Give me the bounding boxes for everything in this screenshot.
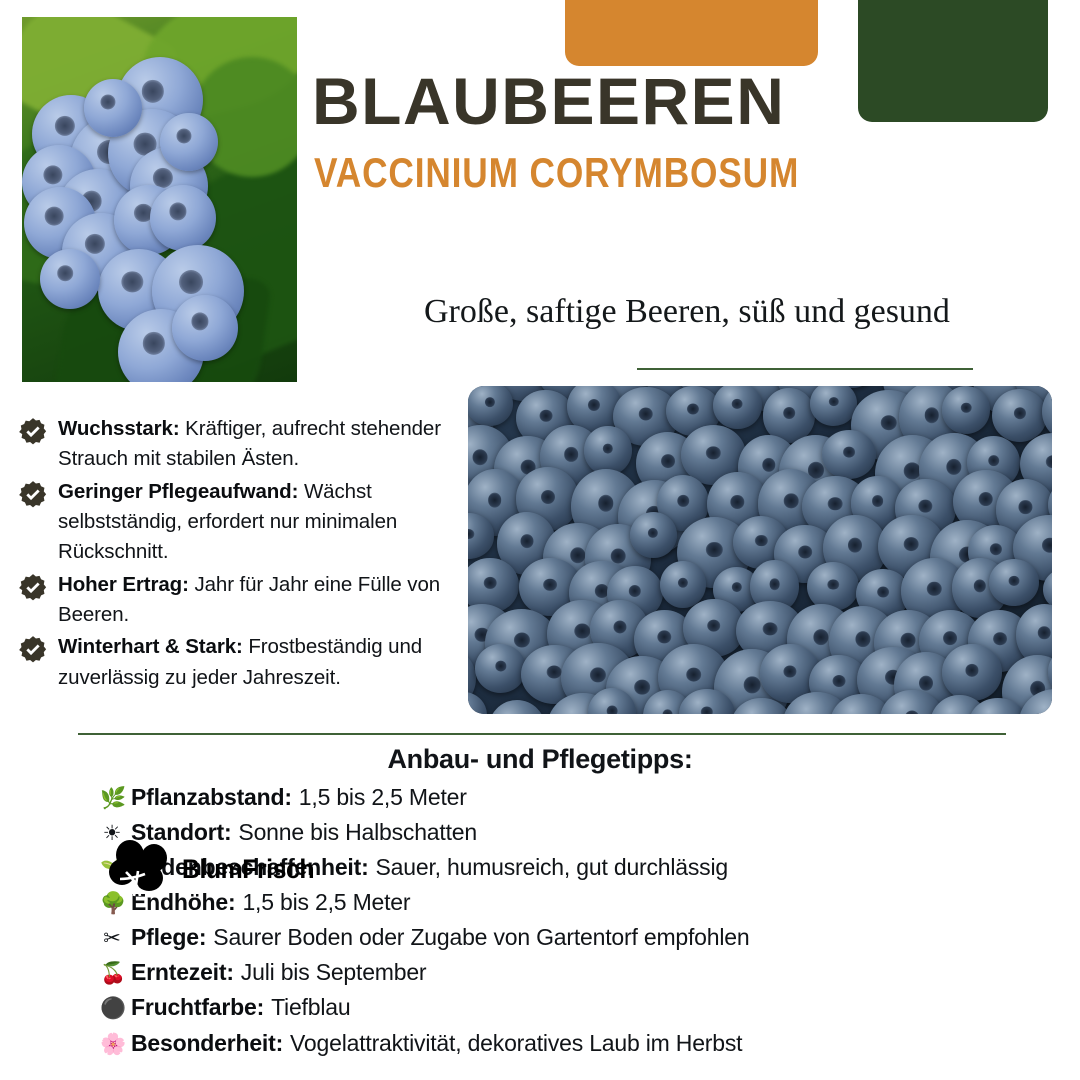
tip-item: 🌿Pflanzabstand:1,5 bis 2,5 Meter bbox=[100, 782, 1060, 813]
feature-label: Winterhart & Stark: bbox=[58, 635, 243, 658]
tip-value: Sonne bis Halbschatten bbox=[238, 817, 477, 848]
tips-heading: Anbau- und Pflegetipps: bbox=[0, 744, 1080, 775]
tip-value: 1,5 bis 2,5 Meter bbox=[299, 782, 467, 813]
tip-label: Standort: bbox=[131, 817, 231, 848]
tip-item: ☀Standort:Sonne bis Halbschatten bbox=[100, 817, 1060, 848]
check-seal-icon bbox=[18, 573, 48, 603]
infographic-page: BLAUBEEREN VACCINIUM CORYMBOSUM Große, s… bbox=[0, 0, 1080, 1080]
tip-item: ⚫Fruchtfarbe:Tiefblau bbox=[100, 992, 1060, 1023]
cherries-icon: 🍒 bbox=[100, 963, 124, 984]
check-seal-icon bbox=[18, 480, 48, 510]
tip-label: Besonderheit: bbox=[131, 1028, 283, 1059]
feature-text: Hoher Ertrag: Jahr für Jahr eine Fülle v… bbox=[58, 570, 480, 631]
seedling-icon: 🌱 bbox=[100, 858, 124, 879]
tree-icon: 🌳 bbox=[100, 893, 124, 914]
tip-label: Pflege: bbox=[131, 922, 206, 953]
tips-list: 🌿Pflanzabstand:1,5 bis 2,5 Meter☀Standor… bbox=[100, 782, 1060, 1063]
tip-value: Saurer Boden oder Zugabe von Gartentorf … bbox=[213, 922, 749, 953]
feature-text: Wuchsstark: Kräftiger, aufrecht stehende… bbox=[58, 414, 480, 475]
tip-label: Pflanzabstand: bbox=[131, 782, 292, 813]
blueberry-macro-photo bbox=[468, 386, 1052, 714]
tip-item: 🌸Besonderheit:Vogelattraktivität, dekora… bbox=[100, 1028, 1060, 1059]
tip-item: ✂Pflege:Saurer Boden oder Zugabe von Gar… bbox=[100, 922, 1060, 953]
page-title: BLAUBEEREN bbox=[312, 68, 785, 134]
tip-item: 🌳Endhöhe:1,5 bis 2,5 Meter bbox=[100, 887, 1060, 918]
feature-text: Winterhart & Stark: Frostbeständig und z… bbox=[58, 632, 480, 693]
divider-top bbox=[637, 368, 973, 370]
page-subtitle: VACCINIUM CORYMBOSUM bbox=[314, 152, 799, 194]
check-seal-icon bbox=[18, 417, 48, 447]
feature-label: Wuchsstark: bbox=[58, 417, 180, 440]
tip-value: 1,5 bis 2,5 Meter bbox=[242, 887, 410, 918]
tip-value: Vogelattraktivität, dekoratives Laub im … bbox=[290, 1028, 742, 1059]
check-seal-icon bbox=[18, 635, 48, 665]
orange-rounded-block bbox=[565, 0, 818, 66]
check-seal-icon bbox=[18, 480, 48, 510]
tip-label: Fruchtfarbe: bbox=[131, 992, 264, 1023]
check-seal-icon bbox=[18, 635, 48, 665]
blueberry-bush-photo bbox=[22, 17, 297, 382]
tip-value: Tiefblau bbox=[271, 992, 350, 1023]
divider-middle bbox=[78, 733, 1006, 735]
check-seal-icon bbox=[18, 417, 48, 447]
tip-item: 🌱Bodenbeschaffenheit:Sauer, humusreich, … bbox=[100, 852, 1060, 883]
feature-list: Wuchsstark: Kräftiger, aufrecht stehende… bbox=[18, 414, 480, 695]
tip-value: Juli bis September bbox=[241, 957, 427, 988]
tip-value: Sauer, humusreich, gut durchlässig bbox=[376, 852, 728, 883]
sun-icon: ☀ bbox=[100, 823, 124, 844]
feature-item: Geringer Pflegeaufwand: Wächst selbststä… bbox=[18, 477, 480, 568]
dark-circle-icon: ⚫ bbox=[100, 998, 124, 1019]
herb-icon: 🌿 bbox=[100, 788, 124, 809]
scissors-icon: ✂ bbox=[100, 928, 124, 949]
feature-label: Geringer Pflegeaufwand: bbox=[58, 480, 298, 503]
blossom-icon: 🌸 bbox=[100, 1034, 124, 1055]
feature-text: Geringer Pflegeaufwand: Wächst selbststä… bbox=[58, 477, 480, 568]
feature-label: Hoher Ertrag: bbox=[58, 573, 189, 596]
feature-item: Hoher Ertrag: Jahr für Jahr eine Fülle v… bbox=[18, 570, 480, 631]
tip-label: Erntezeit: bbox=[131, 957, 234, 988]
green-rounded-block bbox=[858, 0, 1048, 122]
tip-item: 🍒Erntezeit:Juli bis September bbox=[100, 957, 1060, 988]
feature-item: Winterhart & Stark: Frostbeständig und z… bbox=[18, 632, 480, 693]
feature-item: Wuchsstark: Kräftiger, aufrecht stehende… bbox=[18, 414, 480, 475]
tagline: Große, saftige Beeren, süß und gesund bbox=[424, 292, 1044, 333]
tip-label: Endhöhe: bbox=[131, 887, 235, 918]
check-seal-icon bbox=[18, 573, 48, 603]
tip-label: Bodenbeschaffenheit: bbox=[131, 852, 369, 883]
